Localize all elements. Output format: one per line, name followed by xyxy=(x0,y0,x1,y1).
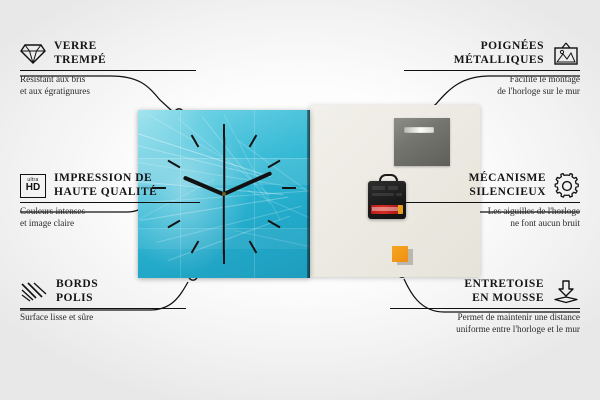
infographic-canvas: VERRE TREMPÉ Résistant aux bris et aux é… xyxy=(0,0,600,400)
feature-subtitle: Permet de maintenir une distance uniform… xyxy=(390,312,580,335)
feature-title: MÉCANISME SILENCIEUX xyxy=(469,172,546,199)
feature-rule xyxy=(20,70,196,71)
feature-title: VERRE TREMPÉ xyxy=(54,40,106,67)
polished-edges-icon xyxy=(20,281,48,303)
feature-impression-haute-qualite: ultra HD IMPRESSION DE HAUTE QUALITÉ Cou… xyxy=(20,172,200,229)
battery-label xyxy=(372,207,398,211)
feature-verre-trempe: VERRE TREMPÉ Résistant aux bris et aux é… xyxy=(20,40,196,97)
feature-subtitle: Facilite le montage de l'horloge sur le … xyxy=(404,74,580,97)
feature-entretoise-en-mousse: ENTRETOISE EN MOUSSE Permet de maintenir… xyxy=(390,278,580,335)
second-hand-tail xyxy=(223,136,225,194)
feature-header: ultra HD IMPRESSION DE HAUTE QUALITÉ xyxy=(20,172,200,199)
feature-header: MÉCANISME SILENCIEUX xyxy=(404,172,580,199)
feature-header: ENTRETOISE EN MOUSSE xyxy=(390,278,580,305)
hanger-slot xyxy=(404,127,434,133)
mechanism-detail xyxy=(388,186,398,190)
mechanism-detail xyxy=(372,193,394,196)
feature-rule xyxy=(404,202,580,203)
feature-rule xyxy=(404,70,580,71)
mechanism-detail xyxy=(396,193,402,196)
picture-hanger-icon xyxy=(552,42,580,66)
feature-rule xyxy=(20,308,186,309)
second-hand xyxy=(223,194,225,254)
feature-subtitle: Résistant aux bris et aux égratignures xyxy=(20,74,196,97)
gear-icon xyxy=(554,173,580,199)
feature-rule xyxy=(390,308,580,309)
clock-center-pin xyxy=(222,192,226,196)
feature-mecanisme-silencieux: MÉCANISME SILENCIEUX Les aiguilles de l'… xyxy=(404,172,580,229)
feature-header: VERRE TREMPÉ xyxy=(20,40,196,67)
feature-title: ENTRETOISE EN MOUSSE xyxy=(464,278,544,305)
ultra-hd-icon: ultra HD xyxy=(20,174,46,198)
feature-rule xyxy=(20,202,200,203)
foam-spacer xyxy=(392,246,408,262)
metal-hanger-plate xyxy=(394,118,450,166)
hour-marker-3 xyxy=(282,187,296,189)
feature-subtitle: Les aiguilles de l'horloge ne font aucun… xyxy=(404,206,580,229)
glass-panel-edge xyxy=(307,110,310,278)
feature-poignees-metalliques: POIGNÉES MÉTALLIQUES Facilite le montage… xyxy=(404,40,580,97)
feature-title: POIGNÉES MÉTALLIQUES xyxy=(454,40,544,67)
feature-bords-polis: BORDS POLIS Surface lisse et sûre xyxy=(20,278,186,324)
diamond-icon xyxy=(20,43,46,65)
foam-spacer-icon xyxy=(552,280,580,304)
mechanism-detail xyxy=(372,186,385,190)
feature-subtitle: Couleurs intenses et image claire xyxy=(20,206,200,229)
feature-header: BORDS POLIS xyxy=(20,278,186,305)
feature-title: IMPRESSION DE HAUTE QUALITÉ xyxy=(54,172,157,199)
feature-subtitle: Surface lisse et sûre xyxy=(20,312,186,323)
battery-positive-cap xyxy=(398,205,403,214)
feature-title: BORDS POLIS xyxy=(56,278,98,305)
feature-header: POIGNÉES MÉTALLIQUES xyxy=(404,40,580,67)
